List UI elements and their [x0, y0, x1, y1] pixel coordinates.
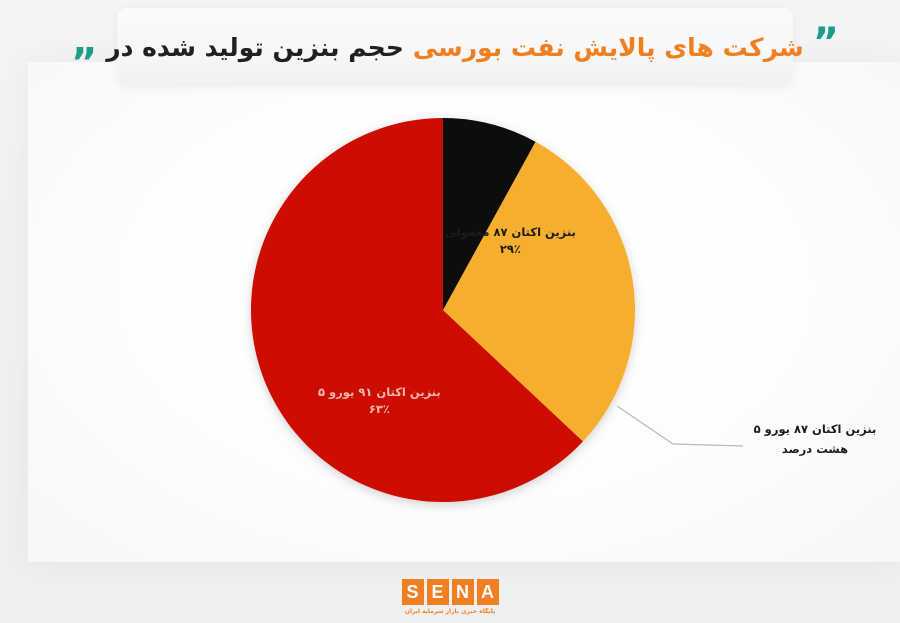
- quote-close-icon: ”: [813, 23, 837, 63]
- page-title-primary: حجم بنزین تولید شده در: [106, 33, 404, 62]
- logo-letter-n: N: [452, 579, 474, 605]
- sena-logo: S E N A: [402, 579, 499, 605]
- pie-svg: [251, 118, 635, 502]
- pie-label-value: هشت درصد: [745, 439, 885, 459]
- page-title-accent: شرکت های پالایش نفت بورسی: [413, 33, 804, 62]
- quote-open-icon: “: [73, 23, 97, 63]
- pie-label-name: بنزین اکتان ۸۷ یورو ۵: [745, 419, 885, 439]
- logo-letter-s: S: [402, 579, 424, 605]
- pie-label-benzin-87-euro5: بنزین اکتان ۸۷ یورو ۵ هشت درصد: [745, 419, 885, 459]
- pie-chart: [251, 118, 635, 502]
- pie-slices-group: [251, 118, 635, 502]
- footer: S E N A پایگاه خبری بازار سرمایه ایران: [0, 579, 900, 615]
- logo-tagline: پایگاه خبری بازار سرمایه ایران: [405, 608, 496, 615]
- title-banner: “ حجم بنزین تولید شده در شرکت های پالایش…: [117, 8, 793, 86]
- logo-letter-e: E: [427, 579, 449, 605]
- logo-letter-a: A: [477, 579, 499, 605]
- infographic-canvas: “ حجم بنزین تولید شده در شرکت های پالایش…: [0, 0, 900, 623]
